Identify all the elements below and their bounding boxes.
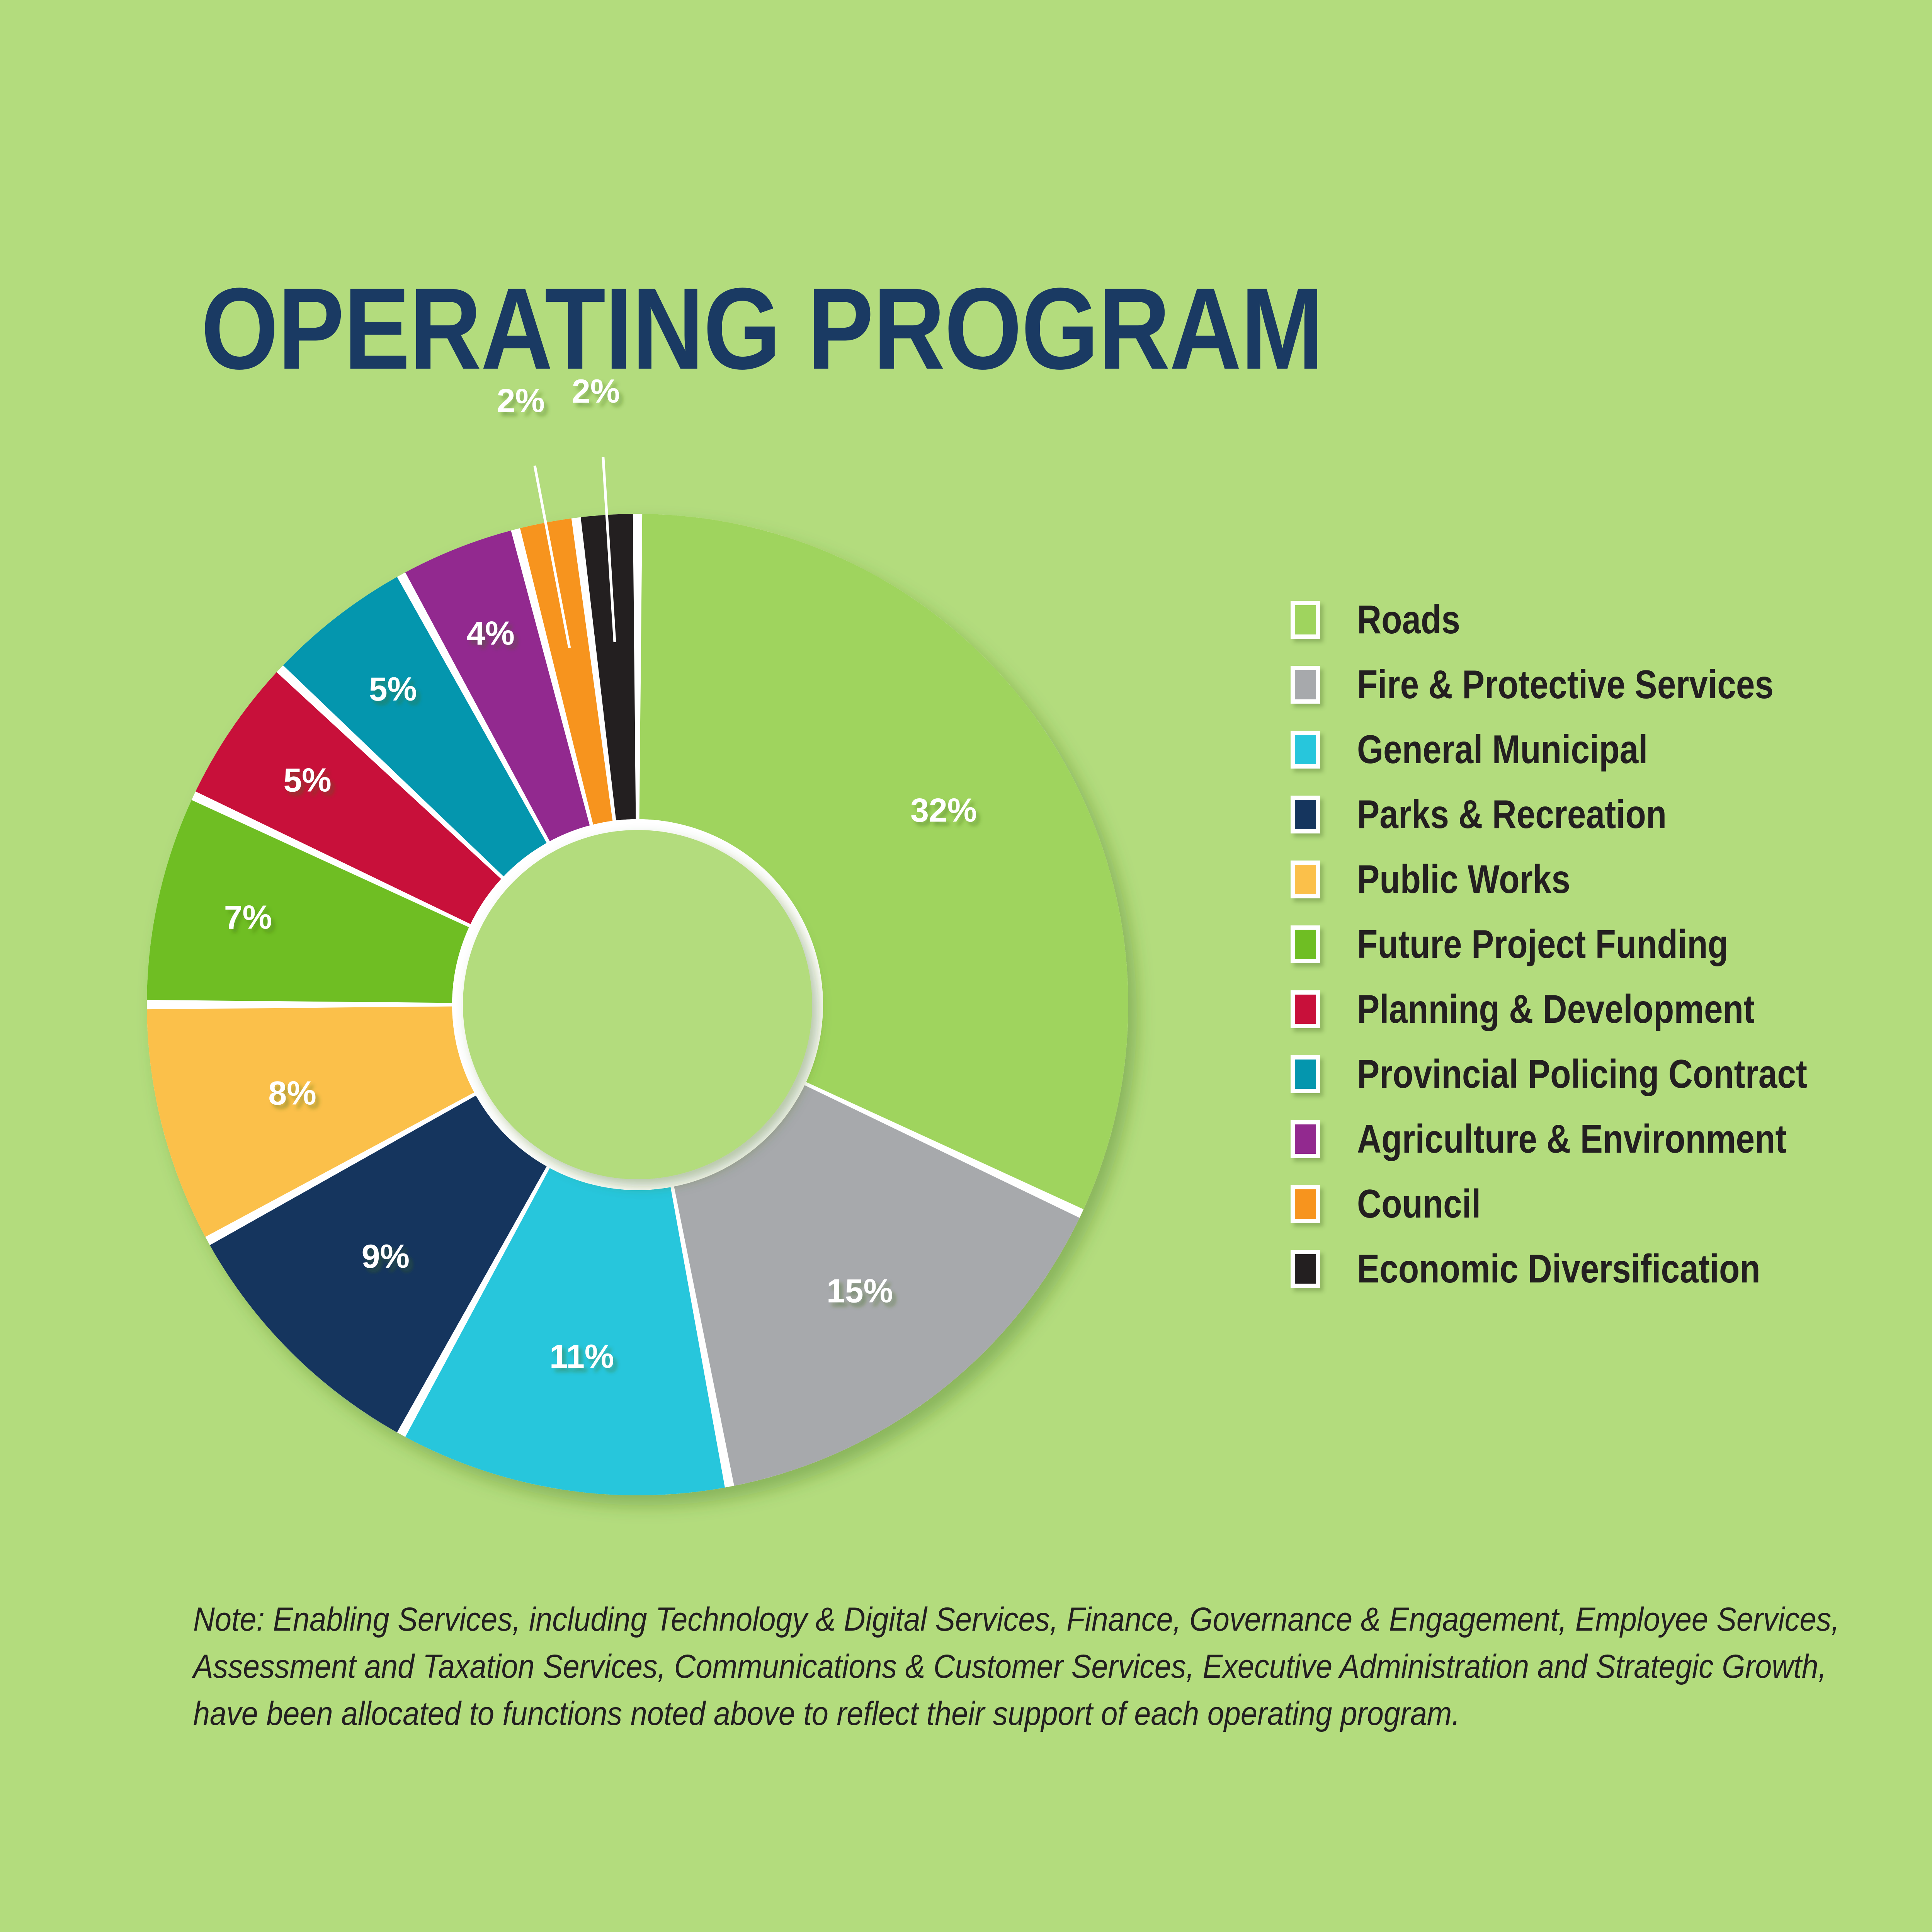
legend-item[interactable]: Future Project Funding xyxy=(1291,920,1932,969)
page-title: OPERATING PROGRAM xyxy=(201,270,1323,386)
legend-swatch xyxy=(1291,1185,1320,1223)
legend-swatch xyxy=(1291,666,1320,704)
legend-swatch-color xyxy=(1295,605,1316,634)
legend-swatch-color xyxy=(1295,800,1316,829)
legend-item[interactable]: Agriculture & Environment xyxy=(1291,1114,1932,1164)
legend-swatch-color xyxy=(1295,1124,1316,1154)
slice-value-label: 7% xyxy=(224,899,272,936)
legend-swatch-color xyxy=(1295,930,1316,959)
legend-item[interactable]: Economic Diversification xyxy=(1291,1244,1932,1294)
legend-swatch-color xyxy=(1295,735,1316,764)
legend-item-label: Future Project Funding xyxy=(1357,924,1728,964)
legend-swatch xyxy=(1291,1055,1320,1093)
legend-swatch-color xyxy=(1295,1254,1316,1284)
legend-item-label: Planning & Development xyxy=(1357,989,1755,1029)
donut-chart: 32%15%11%9%8%7%5%5%4% 2%2% xyxy=(128,491,1148,1534)
footnote-line-1: Note: Enabling Services, including Techn… xyxy=(193,1596,1723,1643)
legend-item-label: Roads xyxy=(1357,600,1460,640)
legend-swatch-color xyxy=(1295,995,1316,1024)
legend-swatch xyxy=(1291,925,1320,963)
infographic-page: OPERATING PROGRAM 32%15% xyxy=(0,0,1932,1932)
donut-hole xyxy=(463,830,812,1179)
legend-swatch-color xyxy=(1295,670,1316,699)
legend-item[interactable]: Public Works xyxy=(1291,855,1932,904)
donut-chart-svg: 32%15%11%9%8%7%5%5%4% 2%2% xyxy=(128,491,1148,1534)
legend-item-label: General Municipal xyxy=(1357,730,1648,770)
slice-value-label: 5% xyxy=(369,671,417,708)
legend-item-label: Agriculture & Environment xyxy=(1357,1119,1787,1159)
slice-value-label: 32% xyxy=(910,792,977,829)
footnote-line-2: Assessment and Taxation Services, Commun… xyxy=(193,1643,1723,1690)
legend-swatch xyxy=(1291,796,1320,833)
callout-value-label: 2% xyxy=(572,373,620,410)
legend-swatch xyxy=(1291,861,1320,898)
legend: RoadsFire & Protective ServicesGeneral M… xyxy=(1291,595,1932,1309)
legend-item[interactable]: Fire & Protective Services xyxy=(1291,660,1932,709)
legend-swatch-color xyxy=(1295,1189,1316,1219)
legend-item-label: Parks & Recreation xyxy=(1357,794,1667,835)
legend-item[interactable]: Parks & Recreation xyxy=(1291,790,1932,839)
legend-item[interactable]: General Municipal xyxy=(1291,725,1932,774)
legend-swatch xyxy=(1291,990,1320,1028)
legend-item[interactable]: Planning & Development xyxy=(1291,985,1932,1034)
callout-value-label: 2% xyxy=(497,383,545,420)
legend-swatch xyxy=(1291,1250,1320,1288)
slice-value-label: 5% xyxy=(283,762,331,799)
legend-swatch xyxy=(1291,731,1320,769)
legend-swatch-color xyxy=(1295,1060,1316,1089)
legend-swatch xyxy=(1291,1120,1320,1158)
slice-value-label: 11% xyxy=(549,1338,614,1375)
slice-value-label: 4% xyxy=(467,615,515,652)
slice-value-label: 9% xyxy=(362,1238,410,1275)
legend-swatch-color xyxy=(1295,865,1316,894)
legend-item[interactable]: Roads xyxy=(1291,595,1932,645)
legend-swatch xyxy=(1291,601,1320,639)
legend-item-label: Provincial Policing Contract xyxy=(1357,1054,1807,1094)
legend-item[interactable]: Council xyxy=(1291,1179,1932,1229)
legend-item[interactable]: Provincial Policing Contract xyxy=(1291,1049,1932,1099)
legend-item-label: Fire & Protective Services xyxy=(1357,665,1774,705)
slice-value-label: 15% xyxy=(827,1272,893,1310)
slice-value-label: 8% xyxy=(268,1075,316,1112)
legend-item-label: Economic Diversification xyxy=(1357,1249,1760,1289)
legend-item-label: Public Works xyxy=(1357,859,1570,900)
footnote-line-3: have been allocated to functions noted a… xyxy=(193,1690,1723,1737)
footnote: Note: Enabling Services, including Techn… xyxy=(193,1596,1893,1737)
legend-item-label: Council xyxy=(1357,1184,1481,1224)
